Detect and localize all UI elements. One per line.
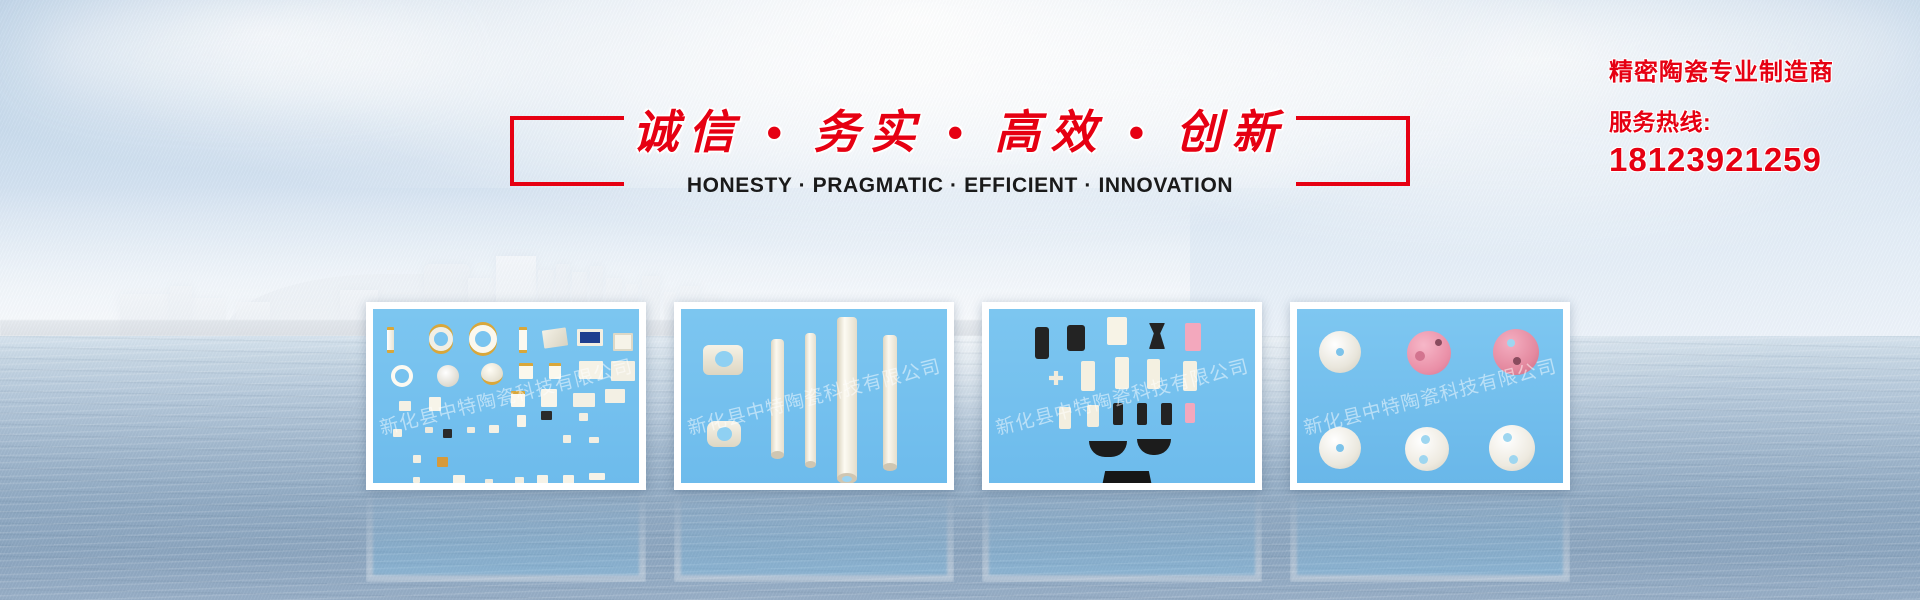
chip-part [605, 389, 625, 403]
block-part [1035, 327, 1049, 359]
product-panel-3-wrapper: 新化县中特陶瓷科技有限公司 [982, 302, 1262, 490]
chip-part [453, 475, 465, 483]
nozzle-bore [1336, 444, 1344, 452]
nozzle-bore [1415, 351, 1425, 361]
ring-bore [715, 351, 733, 367]
product-panel-1[interactable]: 新化县中特陶瓷科技有限公司 [366, 302, 646, 490]
ring-bore [717, 427, 732, 441]
ceramic-tube [805, 333, 816, 467]
block-part [1147, 359, 1160, 389]
product-photo-smd-components: 新化县中特陶瓷科技有限公司 [373, 309, 639, 483]
ceramic-tube [883, 335, 897, 469]
chip-part [387, 327, 394, 353]
chip-part [437, 457, 448, 467]
hotline-number[interactable]: 18123921259 [1609, 141, 1834, 179]
block-part [1149, 323, 1165, 349]
chip-part [563, 475, 574, 483]
chip-part [537, 475, 548, 483]
ceramic-tube [837, 317, 857, 481]
chip-part [485, 479, 493, 483]
product-panel-2-wrapper: 新化县中特陶瓷科技有限公司 [674, 302, 954, 490]
cloud-shape [30, 10, 450, 100]
block-part [1067, 325, 1085, 351]
product-panel-4-wrapper: 新化县中特陶瓷科技有限公司 [1290, 302, 1570, 490]
nozzle-disc [1407, 331, 1451, 375]
chip-part [589, 437, 599, 443]
chip-part [511, 391, 525, 407]
block-part [1137, 403, 1147, 425]
block-part [1081, 361, 1095, 391]
trapezoid-block-part [1101, 471, 1153, 483]
tube-end [771, 451, 784, 459]
nozzle-bore [1503, 433, 1512, 442]
chip-part [399, 401, 411, 411]
chip-part [579, 361, 603, 379]
nozzle-bore [1509, 455, 1518, 464]
block-part [1087, 405, 1099, 427]
promotional-banner: 诚信 • 务实 • 高效 • 创新 HONESTY · PRAGMATIC · … [0, 0, 1920, 600]
disc-part [437, 365, 459, 387]
block-part [1161, 403, 1172, 425]
ceramic-tube [771, 339, 784, 457]
product-panel-2[interactable]: 新化县中特陶瓷科技有限公司 [674, 302, 954, 490]
product-photo-ceramic-blocks: 新化县中特陶瓷科技有限公司 [989, 309, 1255, 483]
cross-part [1049, 371, 1063, 385]
contact-block: 精密陶瓷专业制造商 服务热线: 18123921259 [1609, 52, 1834, 179]
tube-bore [842, 476, 852, 482]
chip-part [541, 389, 557, 407]
disc-part [481, 363, 503, 385]
chip-part [573, 393, 595, 407]
product-photo-ceramic-tubes: 新化县中特陶瓷科技有限公司 [681, 309, 947, 483]
chip-part [515, 477, 524, 483]
chip-part [589, 473, 605, 480]
chip-part [425, 427, 433, 433]
product-panel-3[interactable]: 新化县中特陶瓷科技有限公司 [982, 302, 1262, 490]
chip-part [429, 397, 441, 411]
chip-part [413, 455, 421, 463]
company-tagline: 精密陶瓷专业制造商 [1609, 52, 1834, 87]
block-part [1059, 407, 1071, 429]
chip-part [542, 327, 568, 348]
block-part [1115, 357, 1129, 389]
nozzle-bore [1507, 339, 1515, 347]
chip-part [611, 361, 635, 381]
chip-part [519, 363, 533, 379]
chip-part [549, 363, 561, 379]
product-panel-row: 新化县中特陶瓷科技有限公司 [366, 302, 1570, 490]
product-panel-1-wrapper: 新化县中特陶瓷科技有限公司 [366, 302, 646, 490]
nozzle-disc [1405, 427, 1449, 471]
chip-part [393, 429, 402, 437]
block-part [1185, 403, 1195, 423]
curved-blade-part [1137, 439, 1171, 455]
tube-end [805, 461, 816, 468]
chip-part [517, 415, 526, 427]
ring-part [469, 325, 497, 353]
corner-bracket-left-icon [510, 116, 624, 186]
chip-part [577, 329, 603, 346]
chip-part [579, 413, 588, 421]
block-part [1107, 317, 1127, 345]
tube-end [883, 463, 897, 471]
cloud-shape [230, 30, 530, 100]
nozzle-bore [1513, 357, 1521, 365]
chip-part [489, 425, 499, 433]
nozzle-disc [1489, 425, 1535, 471]
ring-part [391, 365, 413, 387]
corner-bracket-right-icon [1296, 116, 1410, 186]
curved-blade-part [1089, 441, 1127, 457]
ring-part [429, 327, 453, 351]
chip-part [541, 411, 552, 420]
chip-part [519, 327, 527, 353]
slogan-bracket-row: 诚信 • 务实 • 高效 • 创新 [632, 104, 1287, 162]
nozzle-bore [1336, 348, 1344, 356]
chip-part [413, 477, 420, 483]
block-part [1183, 361, 1197, 391]
nozzle-bore [1419, 455, 1428, 464]
product-photo-ceramic-nozzles: 新化县中特陶瓷科技有限公司 [1297, 309, 1563, 483]
block-part [1113, 403, 1123, 425]
slogan-chinese: 诚信 • 务实 • 高效 • 创新 [632, 104, 1287, 162]
product-panel-4[interactable]: 新化县中特陶瓷科技有限公司 [1290, 302, 1570, 490]
chip-part [443, 429, 452, 438]
nozzle-disc [1493, 329, 1539, 375]
hotline-label: 服务热线: [1609, 103, 1834, 137]
chip-part [467, 427, 475, 433]
nozzle-bore [1435, 339, 1442, 346]
block-part [1185, 323, 1201, 351]
chip-part [613, 333, 633, 351]
chip-part [563, 435, 571, 443]
nozzle-bore [1421, 435, 1430, 444]
